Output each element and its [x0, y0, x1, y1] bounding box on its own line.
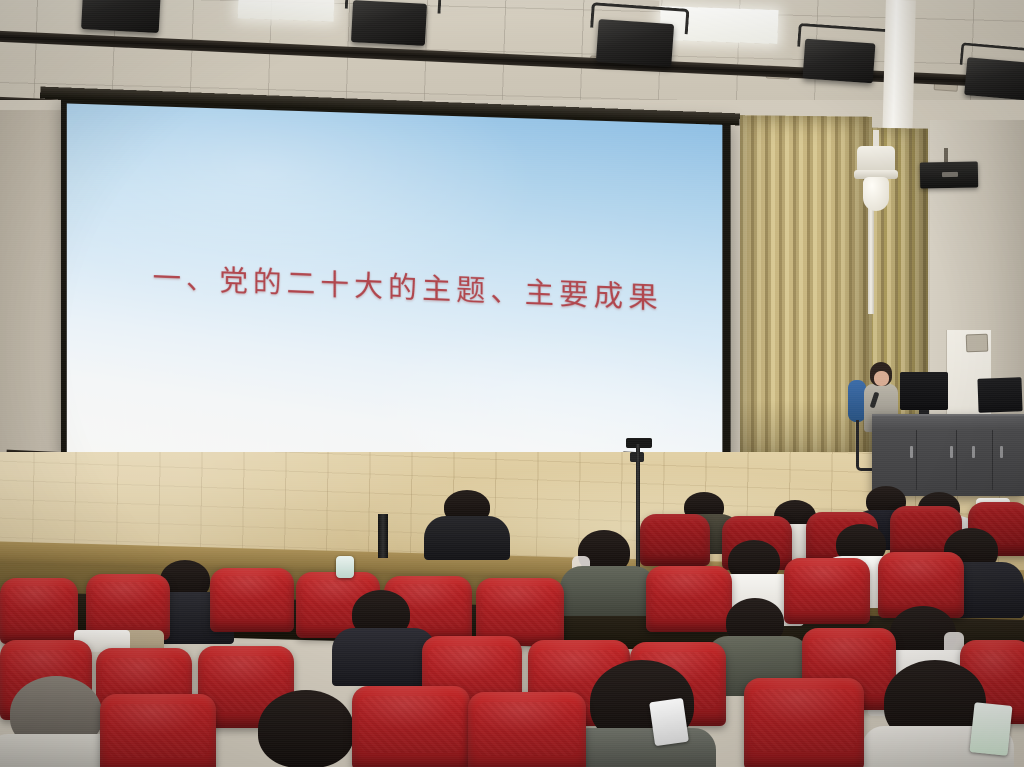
presenter-face [874, 371, 889, 386]
seat [210, 568, 294, 632]
person-shoulders [424, 516, 510, 560]
slide-title-text: 一、党的二十大的主题、主要成果 [67, 251, 723, 319]
phone-white-screen[interactable] [649, 698, 689, 746]
console-door-seam [956, 430, 957, 490]
console-door-seam [992, 430, 993, 490]
wall-outlet-box [966, 334, 989, 353]
console-handle [910, 446, 913, 458]
seat [744, 678, 864, 767]
seat [100, 694, 216, 767]
seat [352, 686, 470, 767]
auditorium-photo: 一、党的二十大的主题、主要成果 [0, 0, 1024, 767]
wall-speaker-icon [920, 161, 978, 188]
speaker-badge [942, 172, 958, 177]
fluorescent-panel-light-b [238, 0, 335, 22]
pendant-cap [857, 146, 895, 172]
control-console [872, 414, 1024, 496]
floor-speaker-post [378, 514, 388, 558]
spotlight-yoke [345, 0, 442, 14]
console-handle [972, 446, 975, 458]
spotlight-yoke [960, 42, 1024, 72]
stage-spotlight-icon [964, 57, 1024, 100]
seat [640, 514, 710, 566]
phone-green-screen[interactable] [969, 702, 1012, 756]
stage-spotlight-icon [803, 39, 876, 84]
seat [468, 692, 586, 767]
console-monitor-2 [977, 377, 1022, 413]
seat [646, 566, 732, 632]
spotlight-yoke [797, 23, 890, 53]
console-handle [950, 446, 953, 458]
person-head [258, 690, 354, 767]
console-monitor-1 [900, 372, 948, 410]
projection-screen: 一、党的二十大的主题、主要成果 [61, 97, 731, 494]
pendant-globe [863, 177, 889, 211]
console-handle [1000, 446, 1003, 458]
stage-spotlight-icon [351, 0, 427, 46]
mic-stand-pole [636, 444, 640, 584]
person-shoulders [560, 566, 656, 616]
seat [0, 578, 78, 644]
projection-screen-surface: 一、党的二十大的主题、主要成果 [67, 103, 723, 483]
stage-spotlight-icon [596, 19, 674, 67]
console-door-seam [916, 430, 917, 490]
person-shoulders [566, 728, 716, 767]
pendant-light-icon [856, 130, 896, 250]
person-shoulders [332, 628, 436, 686]
seat [784, 558, 870, 624]
support-column [882, 0, 916, 145]
spotlight-yoke [590, 2, 689, 34]
stage-spotlight-icon [81, 0, 161, 33]
water-bottle [336, 556, 354, 578]
